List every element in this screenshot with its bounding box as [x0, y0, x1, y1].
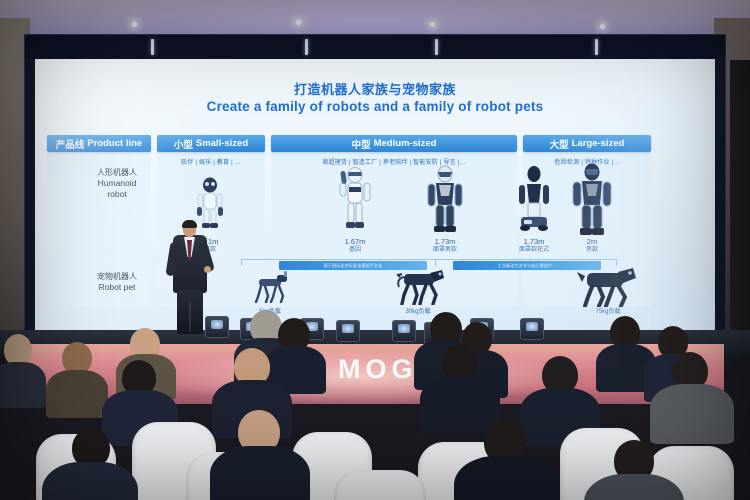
slide-title-cn: 打造机器人家族与宠物家族 — [35, 79, 715, 98]
column-header-small: 小型 Small-sized — [157, 135, 265, 152]
robot-pet-medium — [390, 265, 448, 305]
attendee-shoulders — [0, 362, 46, 408]
robot-pet-small — [247, 271, 293, 303]
spec-variant: 面罩男款 — [410, 246, 480, 254]
slide-title-en: Create a family of robots and a family o… — [35, 99, 715, 114]
attendee-shoulders — [42, 462, 138, 500]
column-header-en: Medium-sized — [374, 138, 437, 149]
attendee-shoulders — [650, 384, 734, 444]
humanoid-robot-medium-1 — [335, 167, 375, 237]
column-header-large: 大型 Large-sized — [523, 135, 651, 152]
row-label-en1: Humanoid — [69, 178, 165, 189]
spec-height: 2m — [557, 237, 627, 246]
column-header-en: Small-sized — [196, 138, 248, 149]
humanoid-robot-medium-2 — [423, 165, 467, 239]
truss-light — [435, 39, 438, 55]
truss-light — [151, 39, 154, 55]
presentation-slide: 打造机器人家族与宠物家族 Create a family of robots a… — [35, 59, 715, 331]
row-label-cn: 宠物机器人 — [69, 271, 165, 282]
row-label-humanoid: 人形机器人 Humanoid robot — [69, 167, 165, 200]
chair — [334, 470, 426, 500]
attendee-shoulders — [454, 456, 558, 500]
column-header-en: Large-sized — [572, 138, 625, 149]
column-header-medium: 中型 Medium-sized — [271, 135, 517, 152]
column-header-en: Product line — [87, 138, 142, 149]
spec-humanoid-5: 2m 男款 — [557, 237, 627, 254]
column-sub-small: 陪伴 | 娱乐 | 教育 | … — [157, 155, 265, 167]
speaker-hair — [182, 220, 197, 228]
column-header-cn: 中型 — [352, 137, 371, 151]
speaker-hand — [204, 266, 211, 273]
row-label-en2: robot — [69, 189, 165, 200]
attendee-shoulders — [210, 446, 310, 500]
column-header-cn: 小型 — [174, 137, 193, 151]
spec-height: 1.73m — [410, 237, 480, 246]
spec-humanoid-3: 1.73m 面罩男款 — [410, 237, 480, 254]
truss-light — [595, 39, 598, 55]
downlight — [296, 20, 301, 25]
downlight — [132, 22, 137, 27]
truss-light — [305, 39, 308, 55]
row-label-cn: 人形机器人 — [69, 167, 165, 178]
spec-height: 1.67m — [320, 237, 390, 246]
audience — [0, 300, 750, 500]
downlight — [600, 24, 605, 29]
conference-photo: 打造机器人家族与宠物家族 Create a family of robots a… — [0, 0, 750, 500]
humanoid-robot-large — [569, 163, 615, 241]
spec-variant: 基因 — [320, 246, 390, 254]
column-header-cn: 大型 — [550, 137, 569, 151]
row-label-robot-pet: 宠物机器人 Robot pet — [69, 271, 165, 293]
attendee-shoulders — [420, 376, 500, 434]
spec-variant: 男款 — [557, 246, 627, 254]
spec-humanoid-2: 1.67m 基因 — [320, 237, 390, 254]
column-sub-medium: 商超理货 | 智造工厂 | 养老陪伴 | 智能安防 | 导言 |… — [271, 155, 517, 167]
screen-top-bar — [25, 35, 725, 59]
column-header-product-line: 产品线 Product line — [47, 135, 151, 152]
column-header-cn: 产品线 — [56, 137, 85, 151]
humanoid-robot-medium-3-wheeled — [513, 165, 555, 239]
row-label-en1: Robot pet — [69, 282, 165, 293]
downlight — [430, 22, 435, 27]
attendee-shoulders — [46, 370, 108, 418]
